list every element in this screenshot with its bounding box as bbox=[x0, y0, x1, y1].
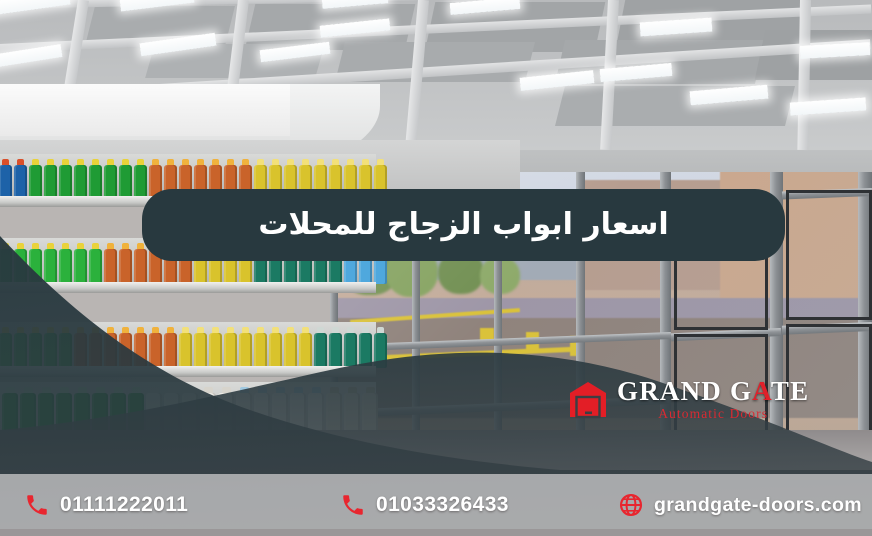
brand-logo[interactable]: GRAND GATE Automatic Doors bbox=[568, 378, 809, 421]
garage-door-icon bbox=[568, 379, 608, 419]
phone-icon bbox=[24, 492, 50, 518]
contact-phone-2[interactable]: 01033326433 bbox=[340, 492, 509, 518]
logo-text: GRAND GATE Automatic Doors bbox=[617, 378, 809, 421]
logo-name-accent: A bbox=[752, 376, 771, 406]
contact-website-label: grandgate-doors.com bbox=[654, 494, 862, 517]
contact-phone-1[interactable]: 01111222011 bbox=[24, 492, 188, 518]
contact-phone-1-label: 01111222011 bbox=[60, 493, 188, 517]
contact-bar: 01111222011 01033326433 grandgate-do bbox=[0, 474, 872, 536]
logo-tagline: Automatic Doors bbox=[617, 407, 809, 421]
contact-website[interactable]: grandgate-doors.com bbox=[618, 492, 862, 518]
dark-wave-overlay bbox=[0, 0, 872, 536]
logo-name-part1: GRAND G bbox=[617, 376, 752, 406]
logo-name: GRAND GATE bbox=[617, 378, 809, 405]
banner-image: اسعار ابواب الزجاج للمحلات GRAND GATE Au… bbox=[0, 0, 872, 536]
page-title: اسعار ابواب الزجاج للمحلات bbox=[258, 210, 668, 240]
globe-icon bbox=[618, 492, 644, 518]
contact-phone-2-label: 01033326433 bbox=[376, 493, 509, 517]
title-banner: اسعار ابواب الزجاج للمحلات bbox=[142, 189, 785, 261]
phone-icon bbox=[340, 492, 366, 518]
logo-name-part2: TE bbox=[771, 376, 809, 406]
